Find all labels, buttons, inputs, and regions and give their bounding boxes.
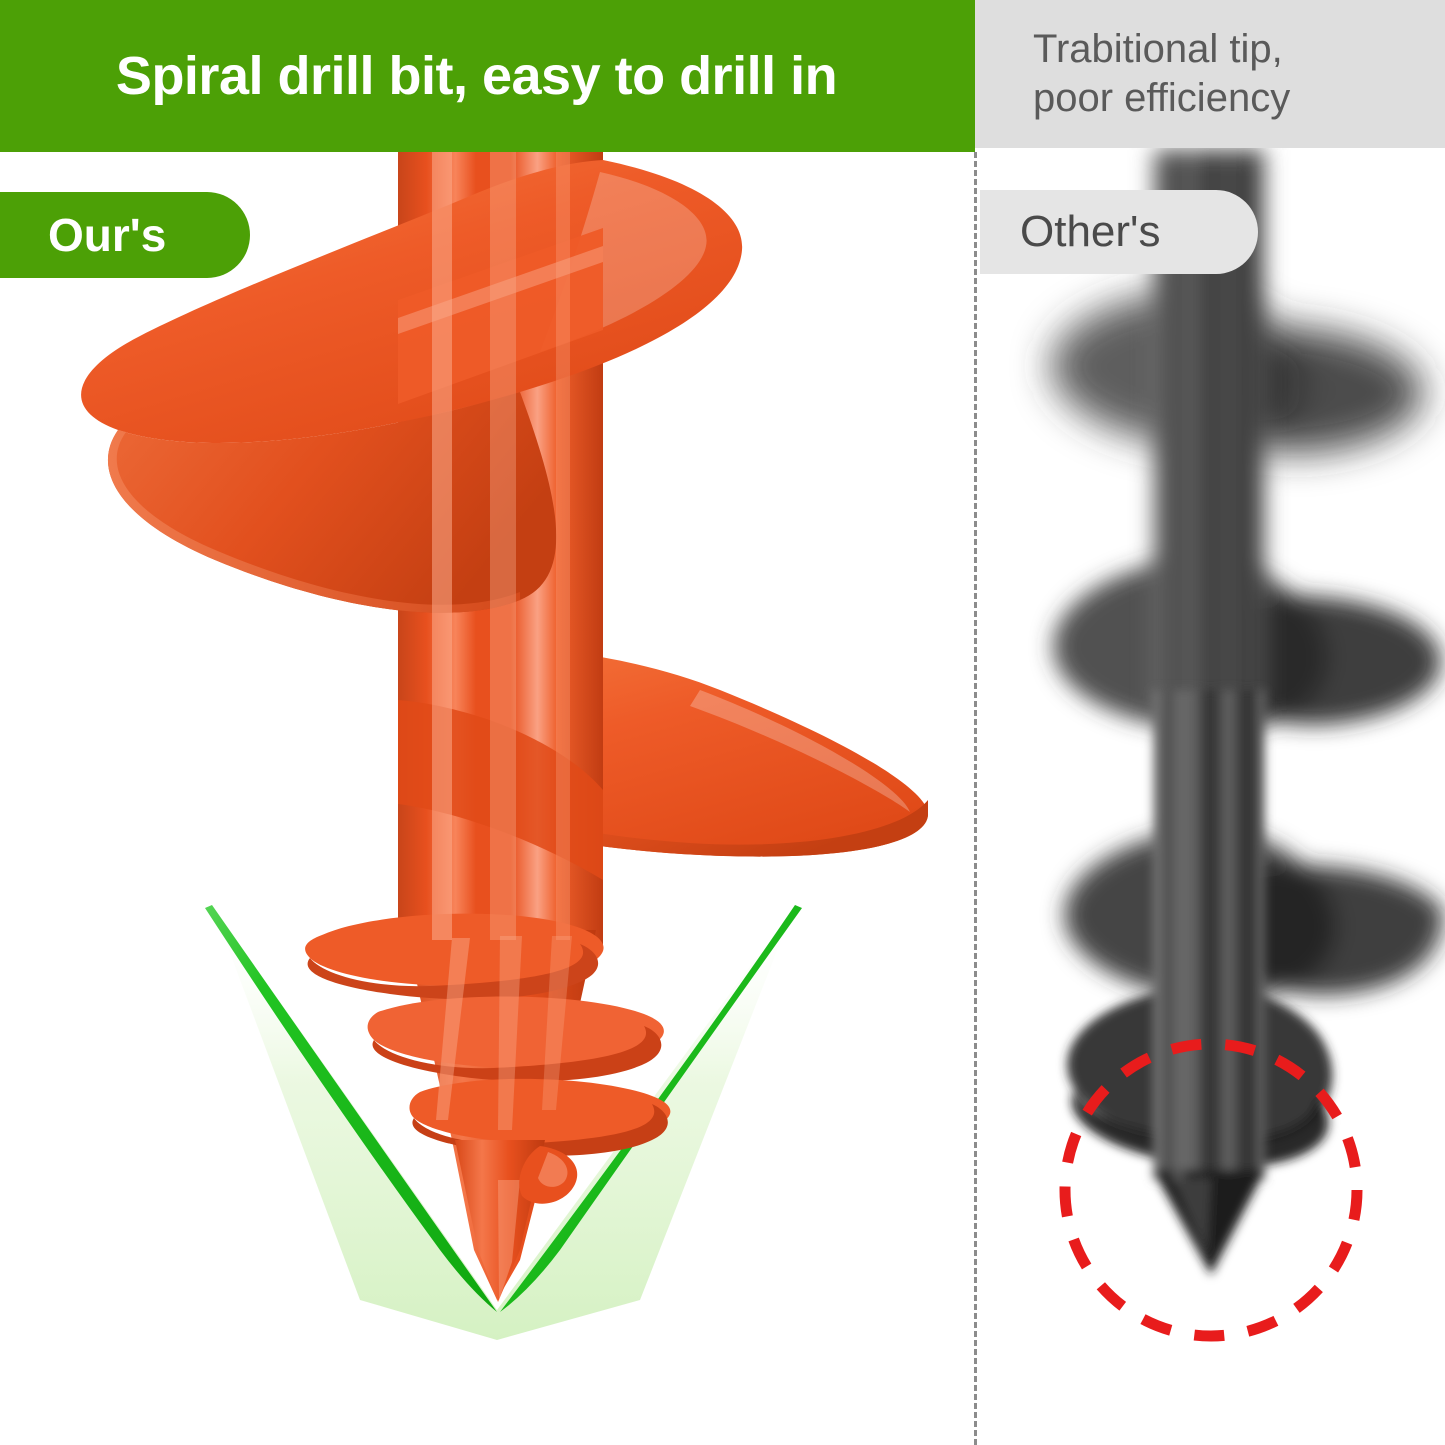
badge-ours: Our's xyxy=(0,192,250,278)
header-others-line2: poor efficiency xyxy=(1033,76,1290,120)
badge-others-label: Other's xyxy=(1020,207,1160,257)
badge-ours-label: Our's xyxy=(48,208,166,262)
header-banner-others: Trabitional tip, poor efficiency xyxy=(975,0,1445,148)
header-banner-ours: Spiral drill bit, easy to drill in xyxy=(0,0,975,152)
header-others-line1: Trabitional tip, xyxy=(1033,27,1283,71)
header-ours-text: Spiral drill bit, easy to drill in xyxy=(116,48,837,105)
comparison-infographic: Spiral drill bit, easy to drill in Trabi… xyxy=(0,0,1445,1445)
header-others-text: Trabitional tip, poor efficiency xyxy=(1033,25,1290,123)
panel-divider xyxy=(974,152,977,1445)
badge-others: Other's xyxy=(980,190,1258,274)
